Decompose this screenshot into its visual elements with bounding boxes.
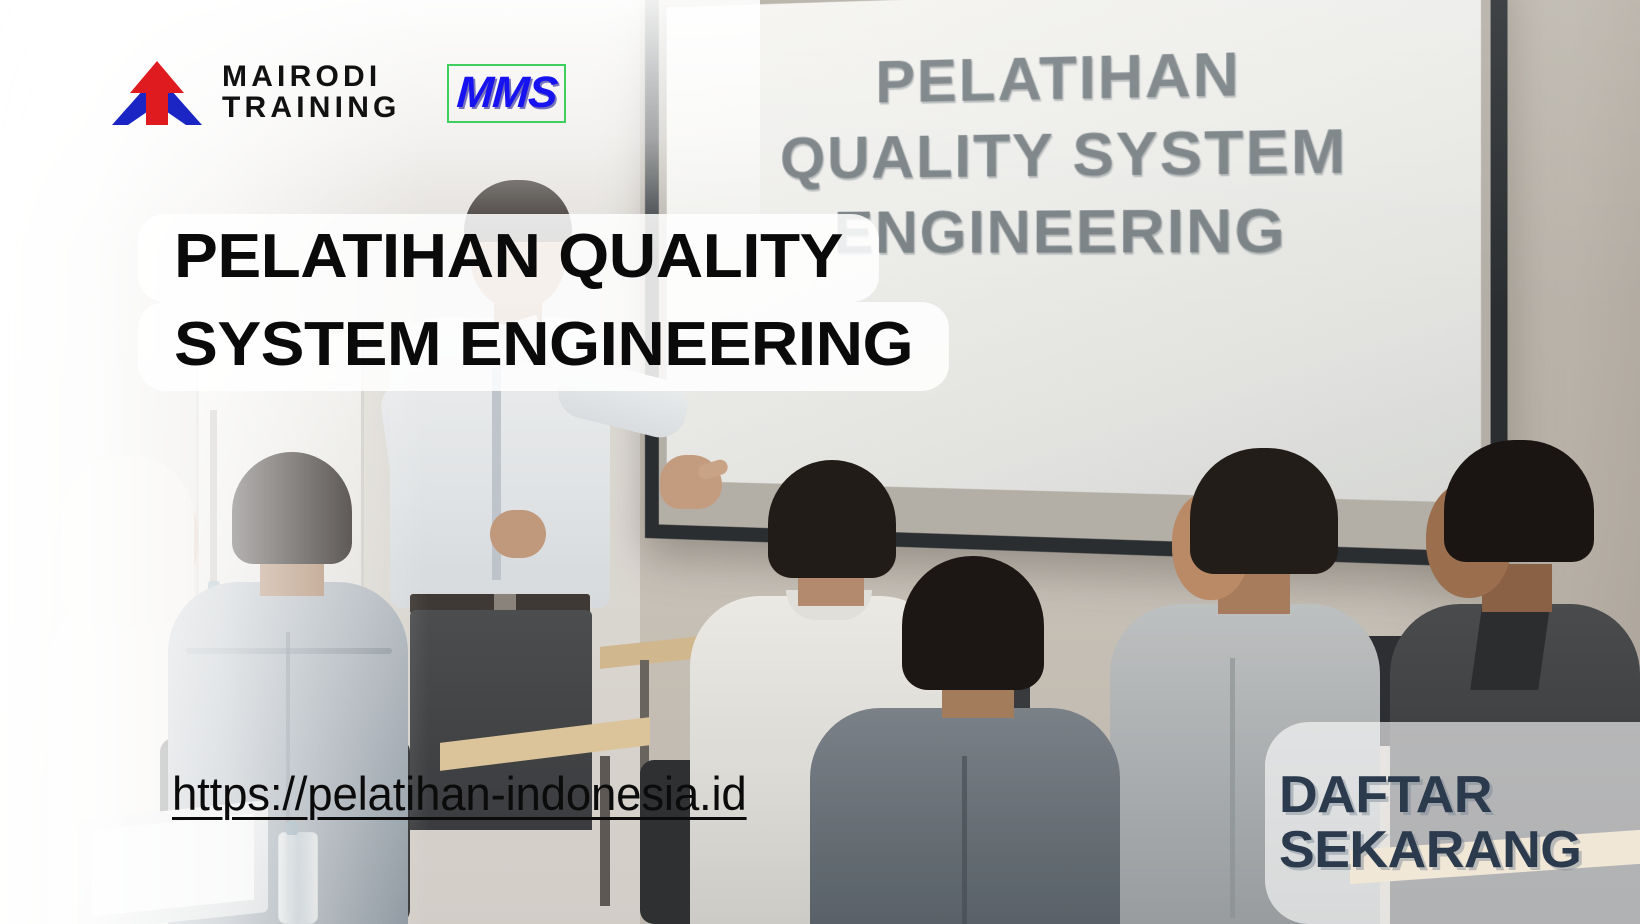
cta-line-2: SEKARANG [1279,823,1640,878]
mairodi-logo[interactable]: MAIRODI TRAINING [110,57,401,129]
promotional-banner: PELATIHAN QUALITY SYSTEM ENGINEERING [0,0,1640,924]
page-title: PELATIHAN QUALITY SYSTEM ENGINEERING [138,214,903,391]
mms-logo[interactable]: MMS [447,64,567,123]
mairodi-line-1: MAIRODI [222,62,401,93]
cta-line-1: DAFTAR [1279,768,1640,823]
mairodi-wordmark: MAIRODI TRAINING [222,62,401,123]
mms-wordmark: MMS [455,71,558,115]
register-now-button[interactable]: DAFTAR SEKARANG [1265,722,1640,924]
mairodi-arrow-logo-icon [110,57,204,129]
page-title-line-2: SYSTEM ENGINEERING [138,302,949,390]
mairodi-line-2: TRAINING [222,93,401,124]
logo-row: MAIRODI TRAINING MMS [110,57,566,129]
website-url-link[interactable]: https://pelatihan-indonesia.id [172,766,747,821]
page-title-line-1: PELATIHAN QUALITY [138,214,879,302]
